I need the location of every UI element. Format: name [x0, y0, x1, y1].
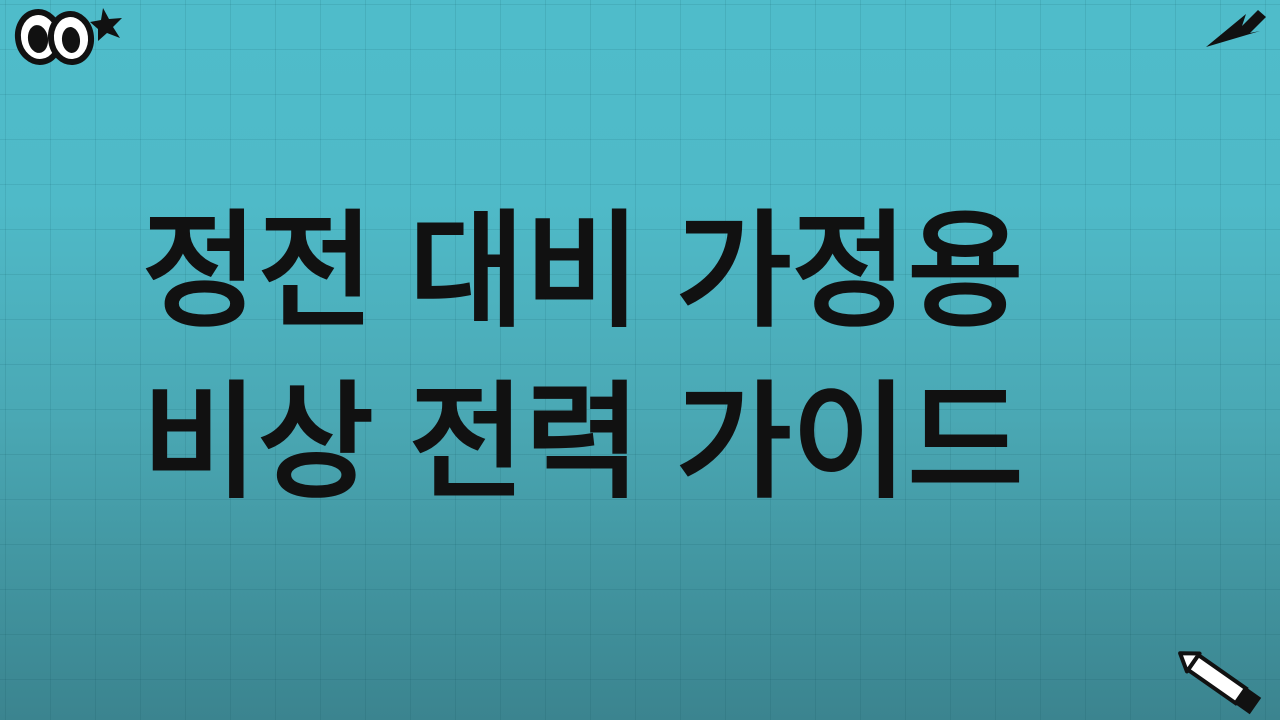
title-line-1: 정전 대비 가정용: [142, 186, 1152, 357]
page-title: 정전 대비 가정용 비상 전력 가이드: [142, 186, 1152, 529]
eye-right: [49, 12, 94, 64]
pencil-icon: [1160, 640, 1280, 720]
title-line-2: 비상 전력 가이드: [142, 357, 1152, 528]
star-icon: [90, 8, 122, 41]
arrow-icon: [1200, 2, 1272, 54]
googly-eyes-icon: [8, 2, 128, 72]
slide-canvas: 정전 대비 가정용 비상 전력 가이드: [0, 0, 1280, 720]
